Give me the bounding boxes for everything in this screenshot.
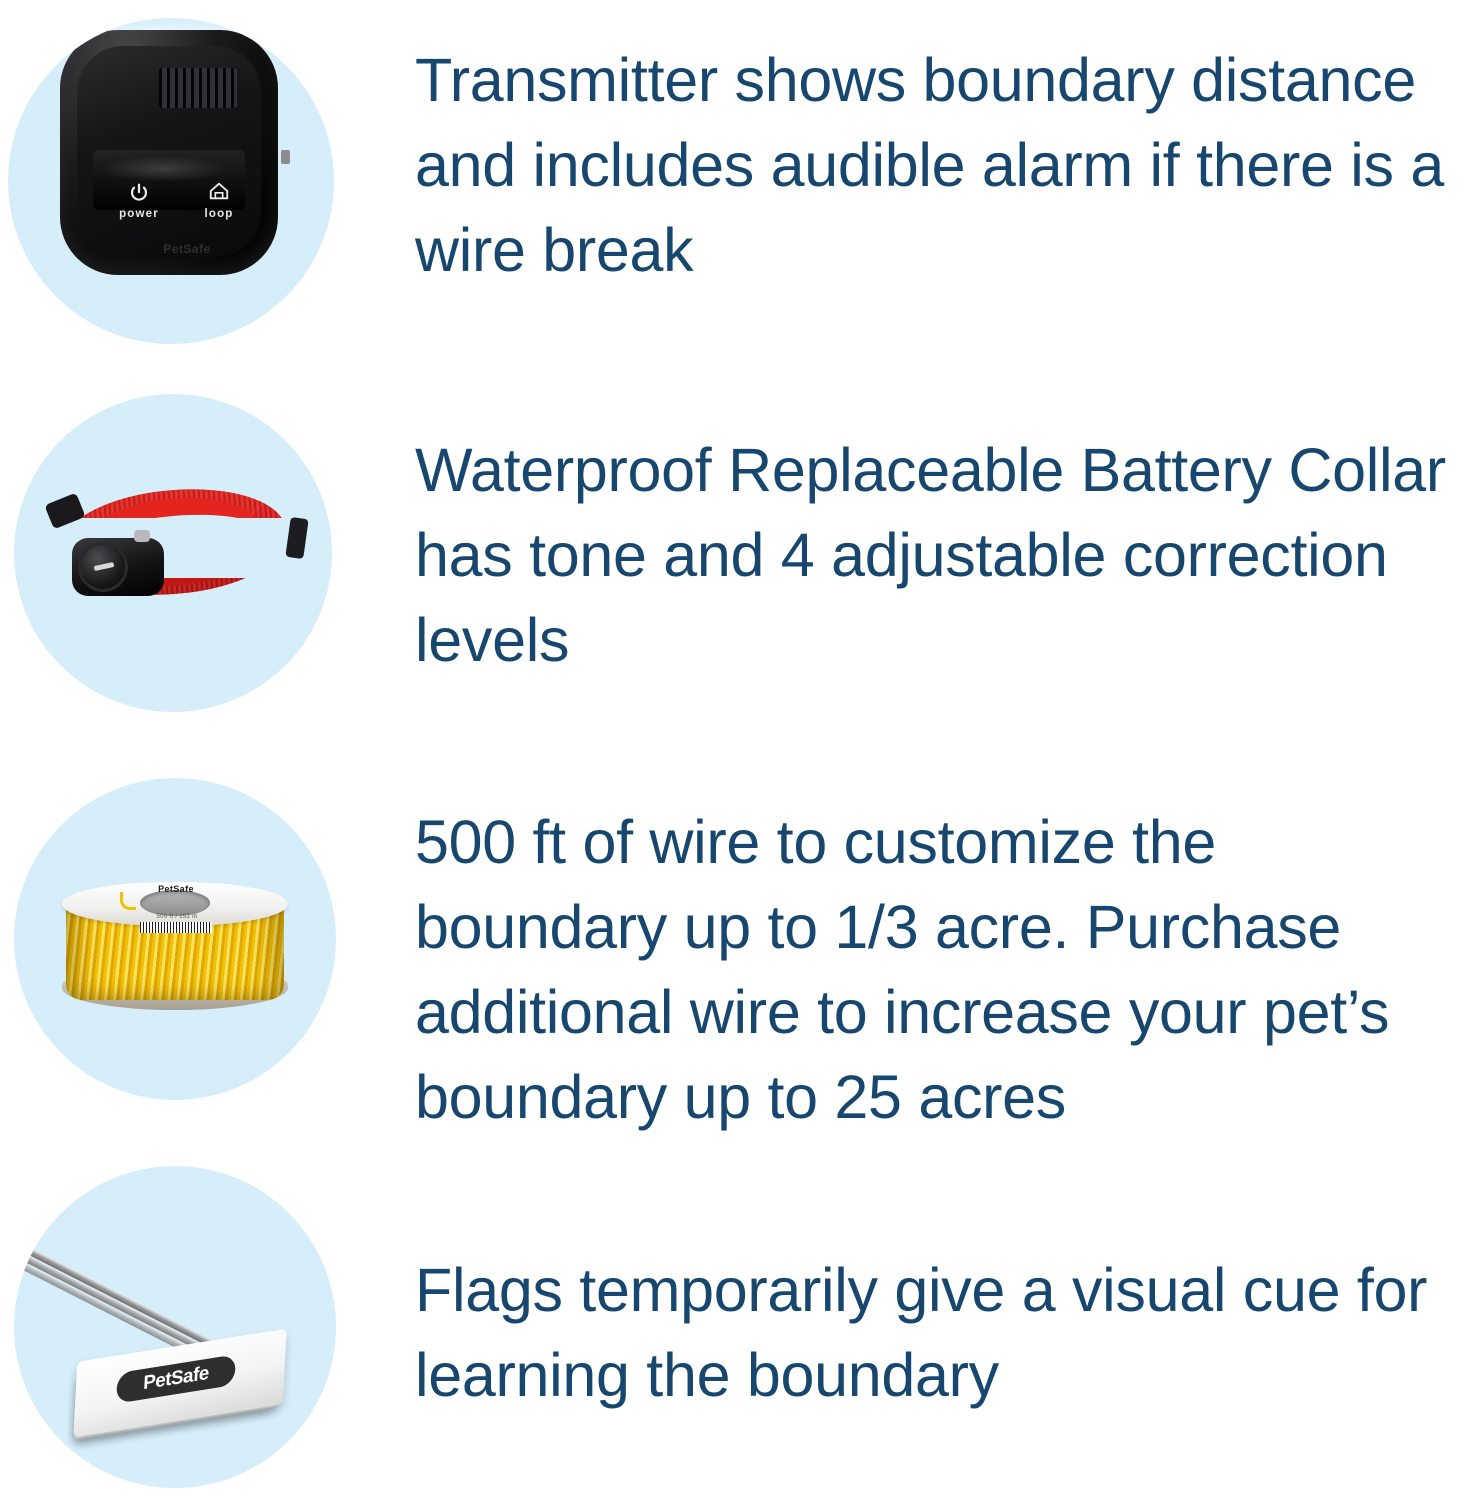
flag-stake-rod <box>16 1251 208 1353</box>
transmitter-gloss <box>99 156 227 182</box>
flag-stake-rod <box>16 1242 213 1347</box>
wire-image-circle: PetSafe 500 ft / 152 m <box>14 778 336 1100</box>
transmitter-front-panel: power loop PetSafe <box>77 46 261 257</box>
transmitter-housing: power loop PetSafe <box>60 30 278 275</box>
boundary-wire-spool-photo: PetSafe 500 ft / 152 m <box>62 868 290 1014</box>
feature-row-transmitter: power loop PetSafe Transmitter shows bou… <box>0 0 1470 380</box>
spool-brand-text: PetSafe <box>126 884 226 894</box>
receiver-collar-photo <box>38 472 310 622</box>
boundary-flags-photo: PetSafe <box>20 1224 330 1446</box>
power-button-label[interactable]: power <box>109 208 169 220</box>
feature-row-collar: Waterproof Replaceable Battery Collar ha… <box>0 380 1470 760</box>
feature-list-board: power loop PetSafe Transmitter shows bou… <box>0 0 1470 1500</box>
transmitter-brand-text: PetSafe <box>127 242 247 256</box>
barcode-icon <box>140 922 212 933</box>
transmitter-photo: power loop PetSafe <box>60 30 285 290</box>
feature-text-flags: Flags temporarily give a visual cue for … <box>415 1248 1465 1418</box>
loop-button-label[interactable]: loop <box>189 208 249 220</box>
collar-battery-button <box>134 530 150 542</box>
transmitter-image-circle: power loop PetSafe <box>8 18 334 344</box>
feature-text-transmitter: Transmitter shows boundary distance and … <box>415 38 1465 293</box>
spool-spec-text: 500 ft / 152 m <box>132 914 222 920</box>
feature-row-wire: PetSafe 500 ft / 152 m 500 ft of wire to… <box>0 760 1470 1160</box>
feature-text-wire: 500 ft of wire to customize the boundary… <box>415 800 1470 1140</box>
feature-text-collar: Waterproof Replaceable Battery Collar ha… <box>415 428 1465 683</box>
power-icon <box>128 182 150 204</box>
wire-loose-end <box>120 892 136 910</box>
transmitter-side-connector <box>281 150 290 164</box>
vent-grille-icon <box>159 68 237 108</box>
collar-image-circle <box>14 394 332 712</box>
loop-icon <box>208 180 230 202</box>
flags-image-circle: PetSafe <box>14 1166 336 1488</box>
feature-row-flags: PetSafe Flags temporarily give a visual … <box>0 1160 1470 1500</box>
